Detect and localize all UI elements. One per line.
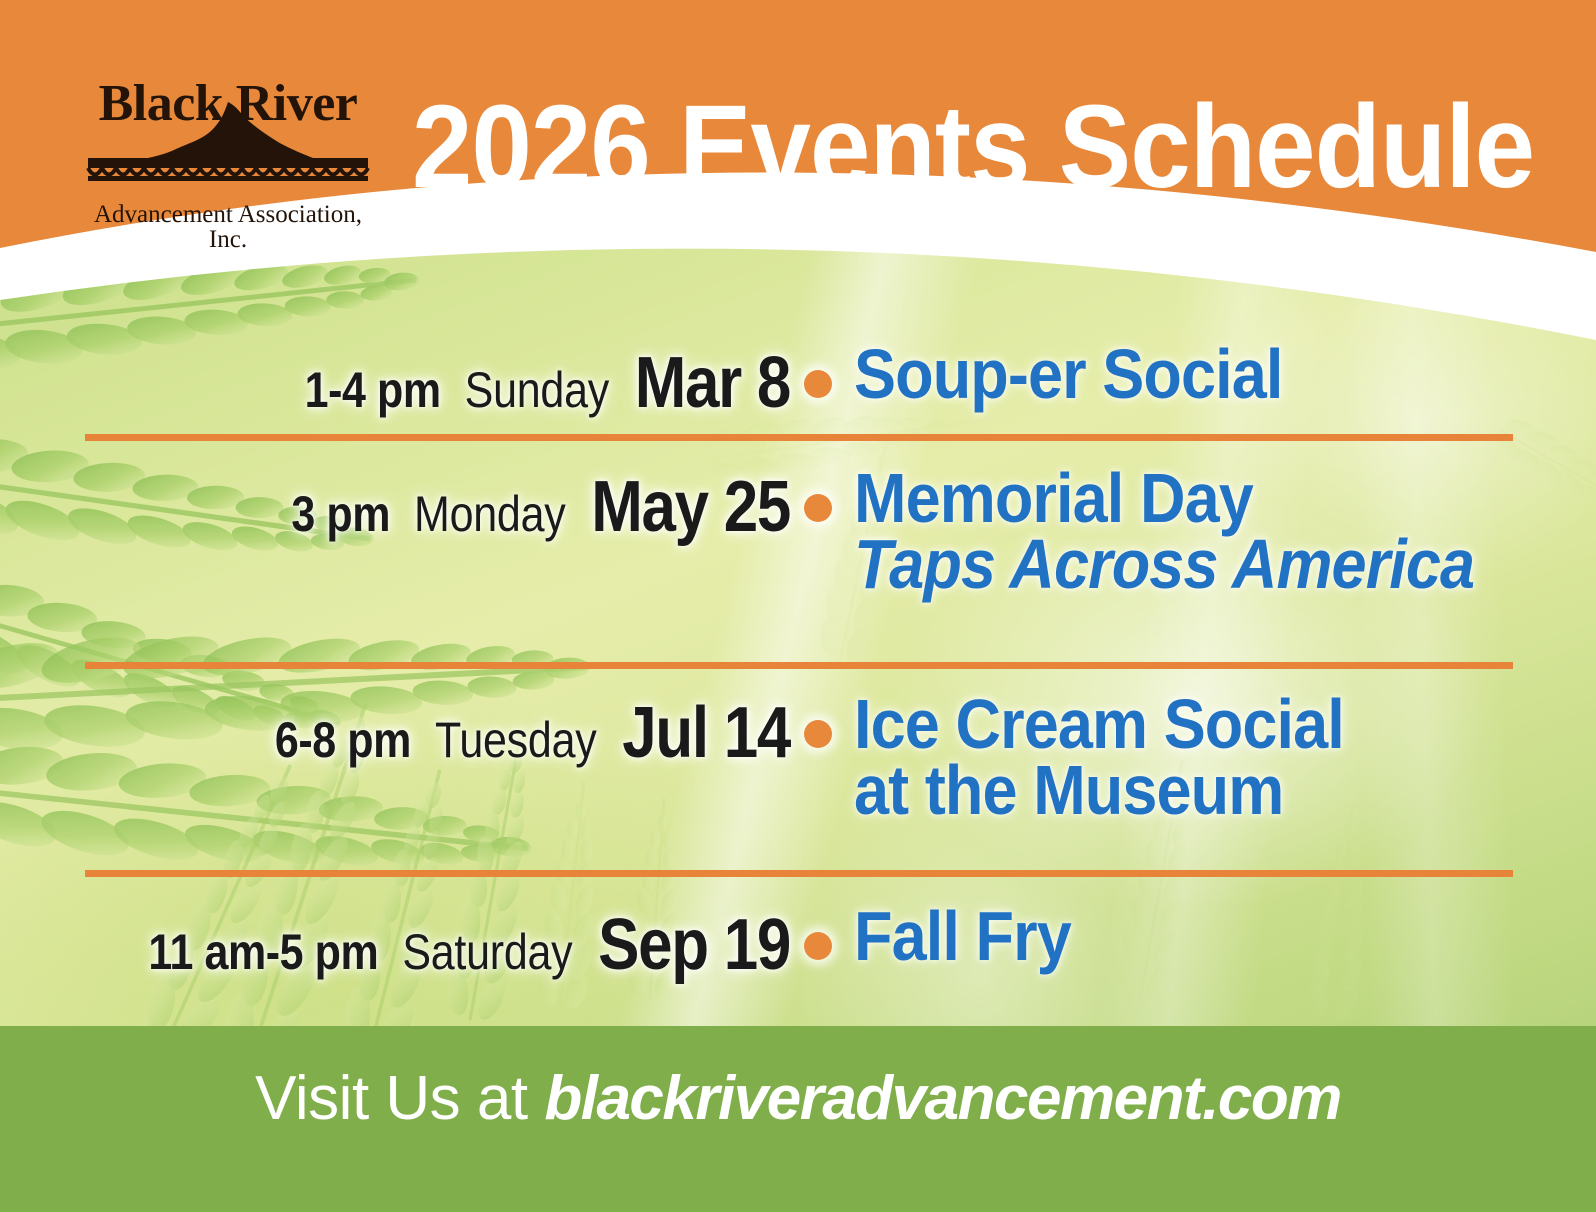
event-date: Mar 8 — [635, 343, 790, 423]
event-date: Sep 19 — [598, 905, 790, 985]
bullet-dot — [804, 932, 832, 960]
row-divider — [85, 662, 1513, 669]
event-row: 3 pm Monday May 25 Memorial Day Taps Acr… — [0, 466, 1596, 598]
event-name: Fall Fry — [854, 904, 1071, 970]
event-name-line1: Fall Fry — [854, 897, 1071, 975]
event-when: 3 pm Monday May 25 — [111, 466, 790, 548]
event-name: Ice Cream Social at the Museum — [854, 692, 1344, 824]
organization-logo: Black River Advancement Association, Inc… — [78, 78, 378, 230]
event-time: 6-8 pm — [275, 712, 411, 768]
event-row: 11 am-5 pm Saturday Sep 19 Fall Fry — [0, 904, 1596, 986]
row-divider — [85, 434, 1513, 441]
bullet-dot — [804, 370, 832, 398]
footer-prefix: Visit Us at — [255, 1064, 544, 1133]
event-name-line1: Soup-er Social — [854, 335, 1282, 413]
event-day: Sunday — [465, 362, 609, 418]
events-poster: Black River Advancement Association, Inc… — [0, 0, 1596, 1212]
event-day: Saturday — [402, 924, 572, 980]
event-name: Memorial Day Taps Across America — [854, 466, 1474, 598]
event-name-line2: Taps Across America — [854, 532, 1474, 598]
logo-wordmark: Black River — [78, 78, 378, 130]
footer-bar: Visit Us at blackriveradvancement.com — [0, 1026, 1596, 1212]
bullet-dot — [804, 494, 832, 522]
bullet-dot — [804, 720, 832, 748]
event-row: 1-4 pm Sunday Mar 8 Soup-er Social — [0, 342, 1596, 424]
event-when: 11 am-5 pm Saturday Sep 19 — [111, 904, 790, 986]
event-date: May 25 — [591, 467, 790, 547]
event-day: Tuesday — [435, 712, 597, 768]
logo-submark: Advancement Association, Inc. — [78, 202, 378, 252]
website-url[interactable]: blackriveradvancement.com — [544, 1064, 1340, 1133]
event-time: 3 pm — [291, 486, 390, 542]
event-date: Jul 14 — [622, 693, 790, 773]
event-when: 6-8 pm Tuesday Jul 14 — [111, 692, 790, 774]
event-time: 1-4 pm — [305, 362, 441, 418]
row-divider — [85, 870, 1513, 877]
event-time: 11 am-5 pm — [148, 924, 378, 980]
event-name: Soup-er Social — [854, 342, 1282, 408]
event-day: Monday — [414, 486, 565, 542]
event-row: 6-8 pm Tuesday Jul 14 Ice Cream Social a… — [0, 692, 1596, 824]
poster-title: 2026 Events Schedule — [412, 88, 1534, 206]
footer-visit-line: Visit Us at blackriveradvancement.com — [0, 1068, 1596, 1130]
event-when: 1-4 pm Sunday Mar 8 — [111, 342, 790, 424]
event-name-line2: at the Museum — [854, 758, 1344, 824]
